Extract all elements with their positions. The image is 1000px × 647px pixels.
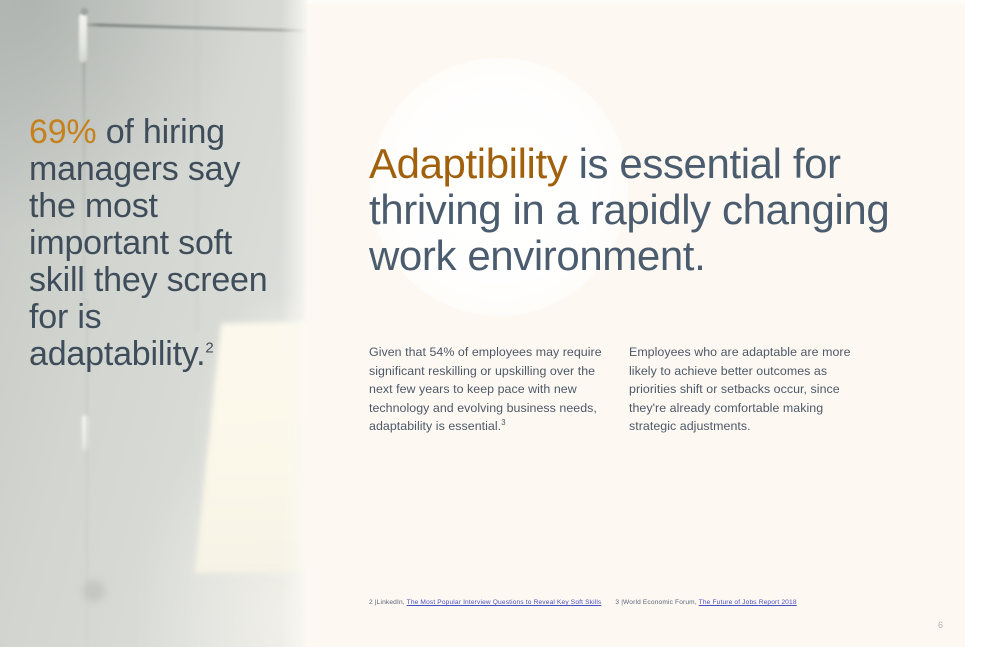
body-text-left: Given that 54% of employees may require … bbox=[369, 345, 602, 433]
footnote-3-marker: 3 |World Economic Forum, bbox=[615, 599, 698, 606]
photo-smudge-spot bbox=[83, 580, 105, 602]
stat-footnote-marker: 2 bbox=[205, 340, 213, 357]
panel-top-band bbox=[307, 0, 965, 4]
photo-clip-object bbox=[79, 14, 87, 62]
body-column-left: Given that 54% of employees may require … bbox=[369, 343, 607, 436]
stat-sentence: of hiring managers say the most importan… bbox=[29, 113, 267, 373]
footnote-3: 3 |World Economic Forum, The Future of J… bbox=[615, 598, 796, 607]
footnote-3-link[interactable]: The Future of Jobs Report 2018 bbox=[699, 599, 797, 606]
footnote-2-link[interactable]: The Most Popular Interview Questions to … bbox=[407, 599, 602, 606]
slide-canvas: 69% of hiring managers say the most impo… bbox=[0, 0, 1000, 647]
footnotes: 2 |LinkedIn, The Most Popular Interview … bbox=[369, 598, 949, 607]
body-text-right: Employees who are adaptable are more lik… bbox=[629, 345, 851, 433]
page-title: Adaptibility is essential for thriving i… bbox=[369, 141, 909, 279]
body-columns: Given that 54% of employees may require … bbox=[369, 343, 929, 436]
stat-callout: 69% of hiring managers say the most impo… bbox=[29, 114, 294, 373]
body-column-right: Employees who are adaptable are more lik… bbox=[629, 343, 859, 436]
footnote-2: 2 |LinkedIn, The Most Popular Interview … bbox=[369, 598, 601, 607]
footnote-2-marker: 2 |LinkedIn, bbox=[369, 599, 407, 606]
headline-accent-word: Adaptibility bbox=[369, 140, 567, 187]
body-left-footnote-marker: 3 bbox=[501, 418, 506, 427]
hero-photo: 69% of hiring managers say the most impo… bbox=[0, 0, 307, 647]
stat-percentage: 69% bbox=[29, 113, 96, 151]
content-panel: Adaptibility is essential for thriving i… bbox=[307, 0, 965, 647]
page-number: 6 bbox=[938, 620, 943, 630]
photo-clip-hook bbox=[81, 8, 88, 15]
